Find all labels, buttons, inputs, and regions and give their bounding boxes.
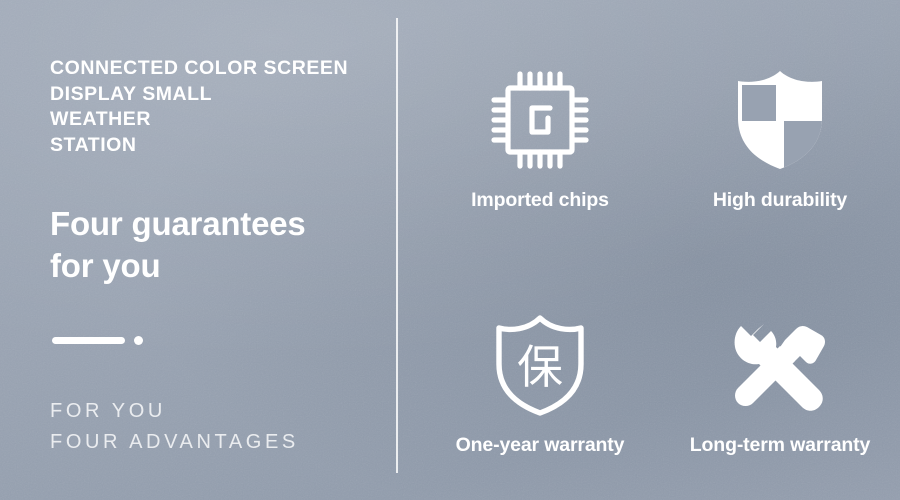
eyebrow-line-3: WEATHER (50, 107, 380, 133)
feature-label: Long-term warranty (690, 434, 870, 457)
feature-item-imported-chips: Imported chips (420, 0, 660, 250)
eyebrow-line-1: CONNECTED COLOR SCREEN (50, 56, 380, 82)
feature-item-long-term-warranty: Long-term warranty (660, 250, 900, 500)
tagline-line-1: FOR YOU (50, 396, 380, 427)
microchip-icon (486, 65, 594, 175)
promo-banner: CONNECTED COLOR SCREEN DISPLAY SMALL WEA… (0, 0, 900, 500)
feature-item-high-durability: High durability (660, 0, 900, 250)
feature-grid: Imported chips (420, 0, 900, 500)
tagline: FOR YOU FOUR ADVANTAGES (50, 396, 380, 458)
eyebrow-line-4: STATION (50, 133, 380, 159)
headline-line-1: Four guarantees (50, 203, 380, 245)
feature-item-one-year-warranty: 保 One-year warranty (420, 250, 660, 500)
feature-label: High durability (713, 189, 847, 212)
feature-label: One-year warranty (456, 434, 625, 457)
shield-warranty-icon: 保 (490, 310, 590, 420)
feature-label: Imported chips (471, 189, 609, 212)
headline-line-2: for you (50, 245, 380, 287)
eyebrow-line-2: DISPLAY SMALL (50, 82, 380, 108)
vertical-divider (396, 18, 398, 473)
warranty-glyph: 保 (517, 340, 563, 394)
tagline-line-2: FOUR ADVANTAGES (50, 427, 380, 458)
eyebrow-heading: CONNECTED COLOR SCREEN DISPLAY SMALL WEA… (50, 56, 380, 158)
rule-bar (52, 337, 125, 344)
page-title: Four guarantees for you (50, 203, 380, 287)
decorative-rule (52, 336, 143, 345)
wrench-hammer-icon (726, 310, 834, 420)
shield-checkered-icon (730, 65, 830, 175)
left-text-panel: CONNECTED COLOR SCREEN DISPLAY SMALL WEA… (50, 0, 380, 500)
rule-dot (134, 336, 143, 345)
